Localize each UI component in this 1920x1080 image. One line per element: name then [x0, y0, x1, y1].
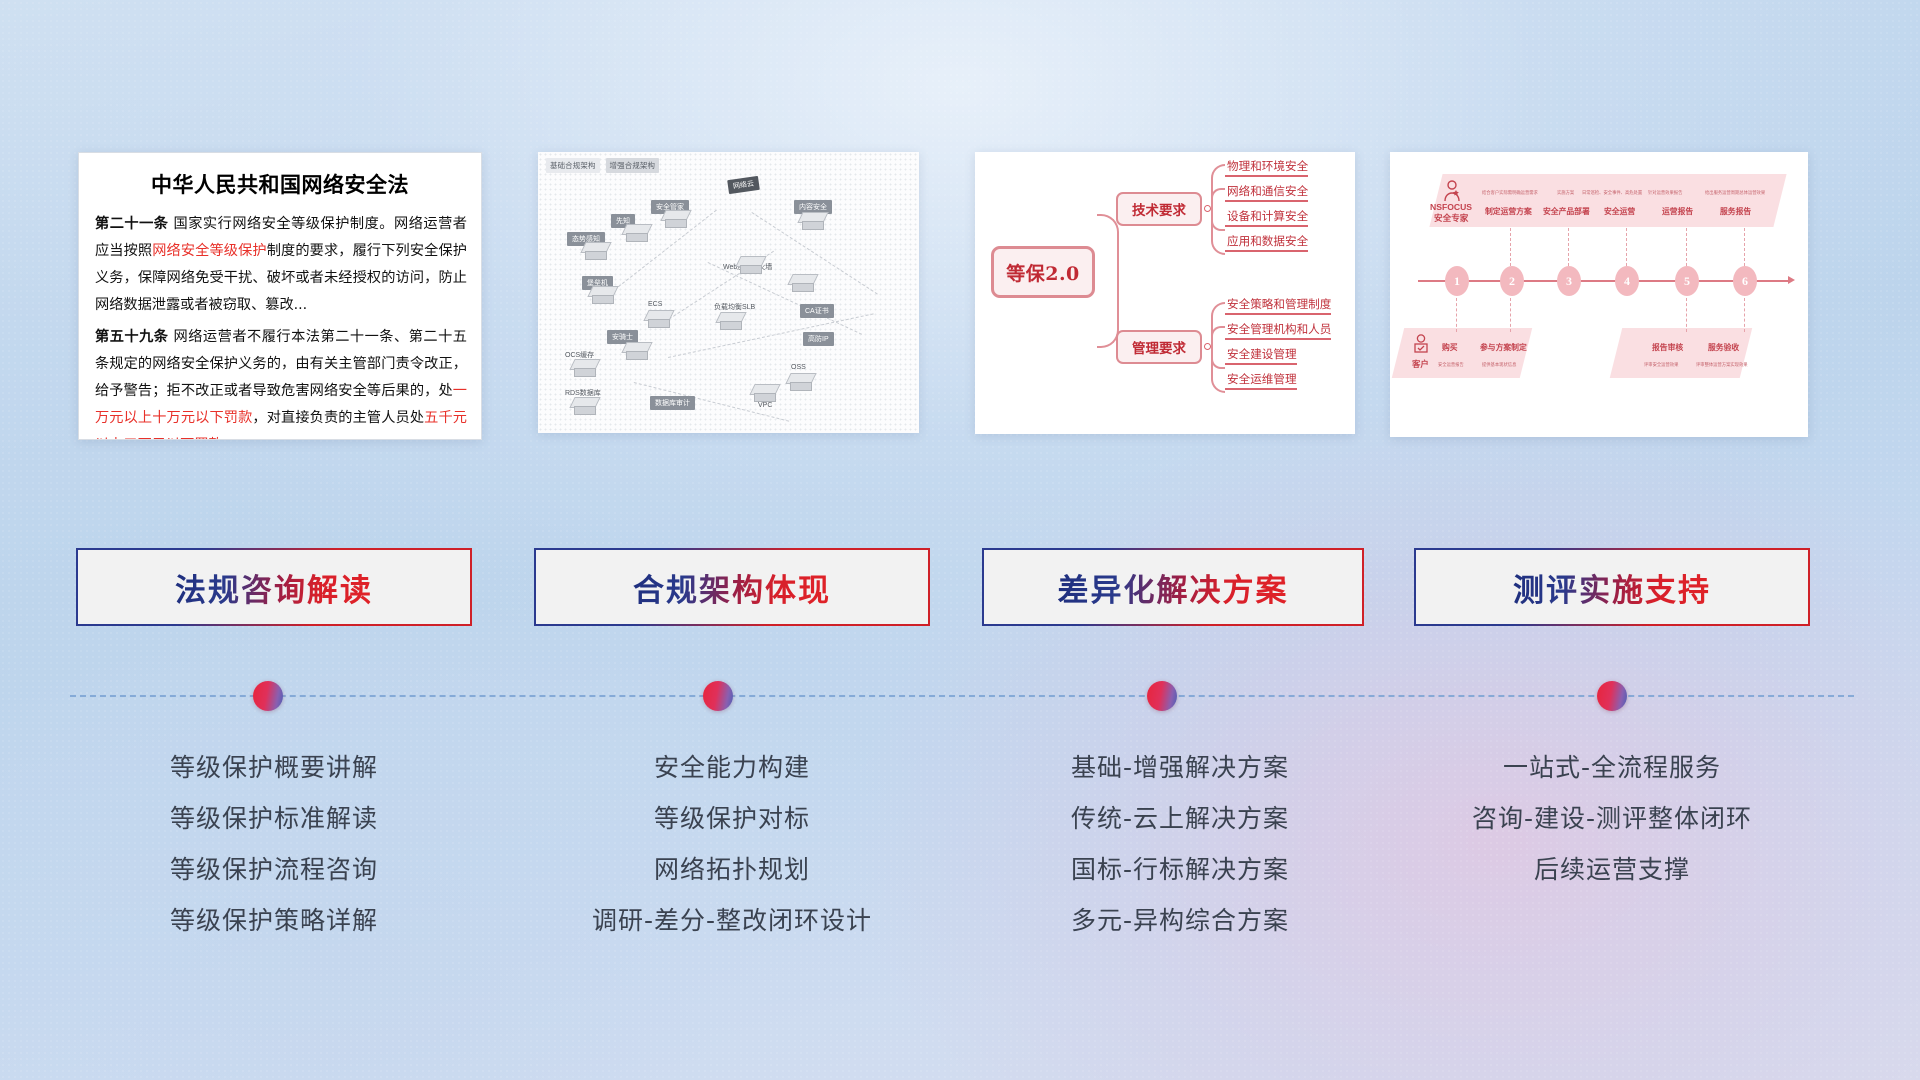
mindmap-node-dot-technical [1204, 205, 1211, 212]
mindmap-leaf-org-personnel: 安全管理机构和人员 [1225, 321, 1331, 340]
mindmap-leaf-ops-mgmt: 安全运维管理 [1225, 371, 1297, 390]
top-item-4-title: 运营报告 [1662, 206, 1693, 217]
mindmap-leaf-construction-mgmt: 安全建设管理 [1225, 346, 1297, 365]
section-header-label-1: 法规咨询解读 [175, 565, 373, 610]
node-oss: OSS [786, 362, 811, 373]
node-ca-certificate: CA证书 [800, 304, 834, 318]
law-title: 中华人民共和国网络安全法 [79, 169, 481, 199]
bottom-item-4-sub: 评审整体运营方案实现效果 [1696, 362, 1748, 368]
mindmap-leaf-device-compute: 设备和计算安全 [1225, 208, 1308, 227]
curve-root-to-technical [1097, 214, 1119, 272]
bottom-item-3-title: 报告审核 [1652, 342, 1683, 353]
timeline-dot-2[interactable] [703, 681, 733, 711]
process-step-6[interactable]: 6 [1733, 266, 1757, 296]
timeline-dot-4[interactable] [1597, 681, 1627, 711]
mindmap-root: 等保2.0 [991, 246, 1095, 298]
process-step-4[interactable]: 4 [1615, 266, 1639, 296]
list-item: 调研-差分-整改闭环设计 [534, 895, 930, 946]
top-item-2-sub: 实施方案 [1557, 190, 1574, 196]
top-item-4-sub: 针对运营效果报告 [1648, 190, 1682, 196]
band-expert [1429, 174, 1786, 227]
top-item-5-sub: 给出服务运营周期总体运营效果 [1705, 190, 1765, 196]
connector-step-2 [1510, 228, 1511, 266]
cube-oss [788, 373, 814, 393]
cube-ocs-cache [572, 359, 598, 379]
expert-icon [1442, 180, 1462, 207]
cube-security-butler [663, 210, 689, 230]
mindmap-leaf-physical-env: 物理和环境安全 [1225, 158, 1308, 177]
bottom-item-2-title: 参与方案制定 [1480, 342, 1527, 353]
card-cybersecurity-law[interactable]: 中华人民共和国网络安全法 第二十一条 国家实行网络安全等级保护制度。网络运营者应… [78, 152, 482, 440]
cube-situational-awareness [583, 242, 609, 262]
cube-bastion-host [590, 286, 616, 306]
bullet-column-4: 一站式-全流程服务 咨询-建设-测评整体闭环 后续运营支撑 [1414, 742, 1810, 895]
node-database-audit: 数据库审计 [650, 396, 695, 410]
list-item: 安全能力构建 [534, 742, 930, 793]
top-item-5-title: 服务报告 [1720, 206, 1751, 217]
connector-step-1-bottom [1456, 298, 1457, 332]
list-item: 等级保护流程咨询 [76, 844, 472, 895]
tab-basic-architecture[interactable]: 基础合规架构 [546, 158, 600, 173]
section-header-label-3: 差异化解决方案 [1058, 565, 1289, 610]
list-item: 等级保护概要讲解 [76, 742, 472, 793]
bottom-item-1-sub: 安全运营报告 [1438, 362, 1464, 368]
curve-t4 [1211, 209, 1225, 255]
bullet-column-1: 等级保护概要讲解 等级保护标准解读 等级保护流程咨询 等级保护策略详解 [76, 742, 472, 946]
section-header-regulation-consulting[interactable]: 法规咨询解读 [76, 548, 472, 626]
section-header-evaluation-support[interactable]: 测评实施支持 [1414, 548, 1810, 626]
process-step-5[interactable]: 5 [1675, 266, 1699, 296]
card-service-process[interactable]: NSFOCUS 安全专家 结合客户实际需明确运营需求 制定运营方案 实施方案 安… [1390, 152, 1808, 437]
cube-xianzhi [624, 224, 650, 244]
law-article-21: 第二十一条 国家实行网络安全等级保护制度。网络运营者应当按照网络安全等级保护制度… [95, 211, 467, 319]
list-item: 咨询-建设-测评整体闭环 [1414, 793, 1810, 844]
list-item: 一站式-全流程服务 [1414, 742, 1810, 793]
connector-step-6 [1744, 228, 1745, 266]
section-header-differentiated-solution[interactable]: 差异化解决方案 [982, 548, 1364, 626]
curve-m4 [1211, 347, 1225, 393]
section-header-label-4: 测评实施支持 [1513, 565, 1711, 610]
top-item-1-sub: 结合客户实际需明确运营需求 [1482, 190, 1538, 196]
connector-step-3 [1568, 228, 1569, 266]
band-customer-right [1610, 328, 1752, 378]
list-item: 等级保护标准解读 [76, 793, 472, 844]
cards-row: 中华人民共和国网络安全法 第二十一条 国家实行网络安全等级保护制度。网络运营者应… [0, 152, 1920, 452]
article-59-label: 第五十九条 [95, 329, 169, 345]
mindmap-leaf-app-data: 应用和数据安全 [1225, 233, 1308, 252]
cube-vpc [752, 384, 778, 404]
top-item-2-title: 安全产品部署 [1543, 206, 1590, 217]
mindmap-leaf-network-comm: 网络和通信安全 [1225, 183, 1308, 202]
mindmap-node-dot-management [1204, 343, 1211, 350]
tab-enhanced-architecture[interactable]: 增强合规架构 [606, 158, 660, 173]
list-item: 基础-增强解决方案 [982, 742, 1378, 793]
mindmap-leaf-security-policy: 安全策略和管理制度 [1225, 296, 1331, 315]
mindmap-branch-technical: 技术要求 [1116, 192, 1202, 226]
timeline-dashed-line [70, 695, 1854, 697]
bottom-item-1-title: 购买 [1442, 342, 1458, 353]
node-anti-ddos-ip: 高防IP [803, 332, 834, 346]
bottom-item-2-sub: 提供基本现状信息 [1482, 362, 1516, 368]
process-step-1[interactable]: 1 [1445, 266, 1469, 296]
customer-label: 客户 [1412, 358, 1429, 370]
bottom-item-3-sub: 评审安全运营效果 [1644, 362, 1678, 368]
timeline-dot-1[interactable] [253, 681, 283, 711]
cube-anqishi [624, 342, 650, 362]
law-article-59: 第五十九条 网络运营者不履行本法第二十一条、第二十五条规定的网络安全保护义务的，… [95, 324, 467, 440]
process-step-3[interactable]: 3 [1557, 266, 1581, 296]
cube-ca [790, 274, 816, 294]
curve-m2 [1211, 326, 1225, 348]
law-body: 第二十一条 国家实行网络安全等级保护制度。网络运营者应当按照网络安全等级保护制度… [95, 211, 467, 440]
process-axis-arrow [1788, 276, 1795, 284]
bottom-item-4-title: 服务验收 [1708, 342, 1739, 353]
section-header-compliance-architecture[interactable]: 合规架构体现 [534, 548, 930, 626]
article-21-label: 第二十一条 [95, 216, 169, 232]
cube-ecs [646, 310, 672, 330]
connector-step-2-bottom [1510, 298, 1511, 332]
top-item-1-title: 制定运营方案 [1485, 206, 1532, 217]
article-21-highlight: 网络安全等级保护 [152, 243, 267, 259]
cube-content-security [800, 212, 826, 232]
connector-step-4 [1626, 228, 1627, 266]
connector-step-6-bottom [1744, 298, 1745, 332]
process-diagram: NSFOCUS 安全专家 结合客户实际需明确运营需求 制定运营方案 实施方案 安… [1390, 152, 1808, 437]
card-dengbao-mindmap[interactable]: 等保2.0 技术要求 物理和环境安全 网络和通信安全 设备和计算安全 应用和数据… [975, 152, 1355, 434]
cube-rds [572, 397, 598, 417]
top-item-3-title: 安全运营 [1604, 206, 1635, 217]
customer-icon [1412, 334, 1430, 359]
list-item: 多元-异构综合方案 [982, 895, 1378, 946]
connector-step-5 [1686, 228, 1687, 266]
card-compliance-architecture[interactable]: 基础合规架构 增强合规架构 网络云 安全管家 先知 态势感知 堡垒机 ECS 安… [538, 152, 919, 433]
architecture-diagram: 基础合规架构 增强合规架构 网络云 安全管家 先知 态势感知 堡垒机 ECS 安… [538, 152, 919, 433]
list-item: 等级保护对标 [534, 793, 930, 844]
cube-slb [718, 312, 744, 332]
bullet-column-2: 安全能力构建 等级保护对标 网络拓扑规划 调研-差分-整改闭环设计 [534, 742, 930, 946]
timeline-dot-3[interactable] [1147, 681, 1177, 711]
bullet-column-3: 基础-增强解决方案 传统-云上解决方案 国标-行标解决方案 多元-异构综合方案 [982, 742, 1378, 946]
architecture-tabs[interactable]: 基础合规架构 增强合规架构 [546, 158, 659, 173]
top-item-3-sub: 日常巡检、安全事件、高危处置 [1582, 190, 1642, 196]
mindmap-branch-management: 管理要求 [1116, 330, 1202, 364]
cube-waf [738, 256, 764, 276]
process-step-2[interactable]: 2 [1500, 266, 1524, 296]
list-item: 等级保护策略详解 [76, 895, 472, 946]
list-item: 网络拓扑规划 [534, 844, 930, 895]
mindmap: 等保2.0 技术要求 物理和环境安全 网络和通信安全 设备和计算安全 应用和数据… [975, 152, 1355, 434]
expert-title: 安全专家 [1434, 212, 1468, 224]
curve-t2 [1211, 188, 1225, 210]
section-header-label-2: 合规架构体现 [633, 565, 831, 610]
list-item: 国标-行标解决方案 [982, 844, 1378, 895]
list-item: 传统-云上解决方案 [982, 793, 1378, 844]
connector-step-5-bottom [1686, 298, 1687, 332]
list-item: 后续运营支撑 [1414, 844, 1810, 895]
article-59-text-b: ，对直接负责的主管人员处 [252, 410, 424, 426]
node-ecs: ECS [643, 299, 667, 310]
